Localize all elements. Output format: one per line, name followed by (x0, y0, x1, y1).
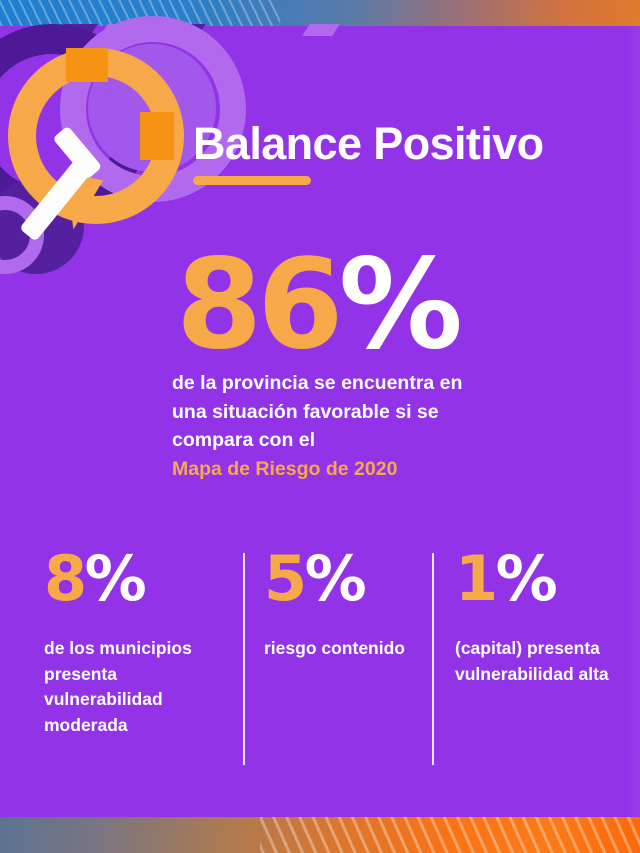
stat-percent-sign: % (305, 542, 365, 615)
hero-line-3: compara con el (172, 429, 315, 451)
stat-column-capital: 1% (capital) presenta vulnerabilidad alt… (455, 548, 623, 687)
check-icon (46, 98, 150, 178)
stat-number: 8 (44, 542, 85, 615)
top-gradient-band (0, 0, 640, 26)
bottom-band-streaks (260, 817, 640, 853)
stat-label: riesgo contenido (264, 636, 434, 662)
stat-column-municipios: 8% de los municipios presenta vulnerabil… (44, 548, 230, 738)
hero-description: de la provincia se encuentra en una situ… (172, 369, 502, 483)
hero-value: 86 (176, 233, 339, 377)
hero-highlight: Mapa de Riesgo de 2020 (172, 455, 502, 484)
stat-value: 8% (44, 548, 230, 610)
edge-chip (301, 24, 341, 36)
stat-percent-sign: % (85, 542, 145, 615)
infographic-poster: Balance Positivo 86% de la provincia se … (0, 0, 640, 853)
logo-overlap-shade (66, 48, 108, 82)
stat-label: de los municipios presenta vulnerabilida… (44, 636, 230, 738)
stat-value: 5% (264, 548, 434, 610)
stat-percent-sign: % (496, 542, 556, 615)
stat-number: 1 (455, 542, 496, 615)
stat-value: 1% (455, 548, 623, 610)
stats-divider (243, 553, 245, 765)
stat-column-riesgo-contenido: 5% riesgo contenido (264, 548, 434, 662)
hero-line-2: una situación favorable si se (172, 401, 439, 423)
checkmark-circle-icon (8, 48, 184, 234)
page-title: Balance Positivo (193, 118, 544, 170)
title-underline (193, 176, 311, 185)
hero-statistic: 86% (176, 243, 458, 367)
stat-number: 5 (264, 542, 305, 615)
stat-label: (capital) presenta vulnerabilidad alta (455, 636, 623, 687)
bottom-gradient-band (0, 817, 640, 853)
hero-percent-sign: % (339, 233, 458, 377)
hero-line-1: de la provincia se encuentra en (172, 372, 462, 394)
stats-row: 8% de los municipios presenta vulnerabil… (0, 548, 640, 776)
